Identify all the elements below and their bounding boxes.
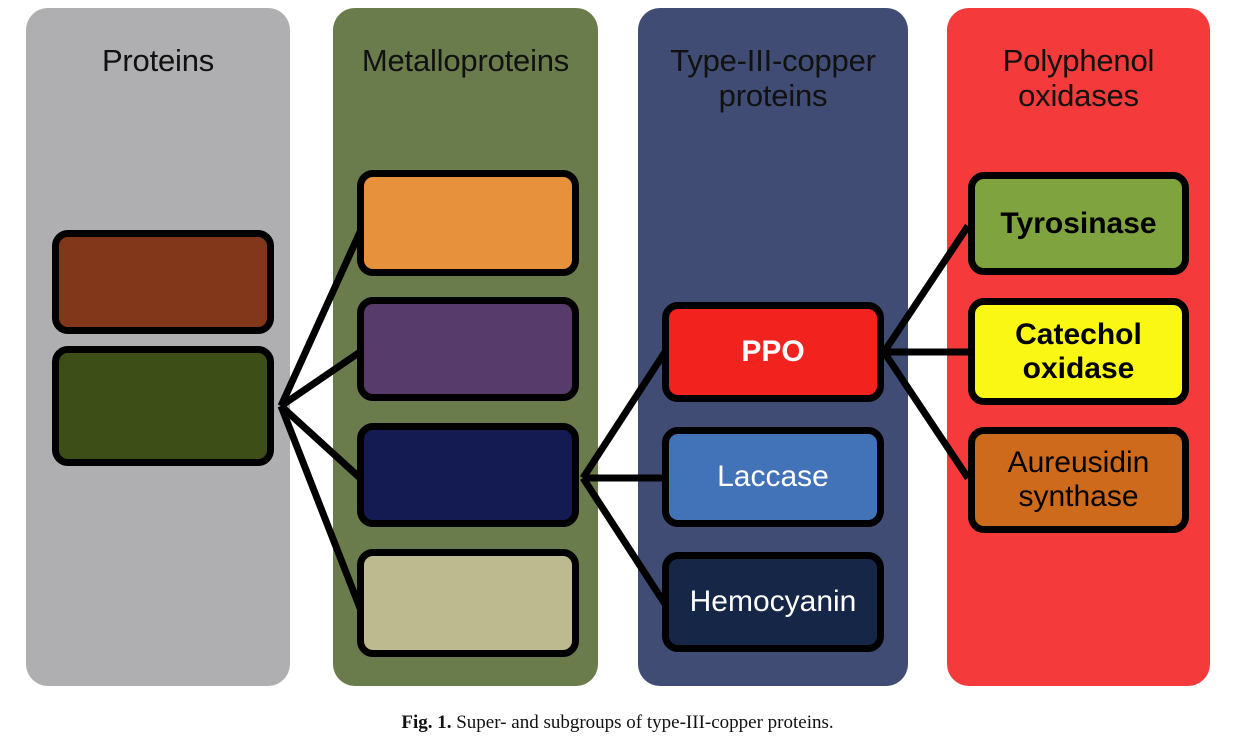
node-aureusidin-synthase[interactable]: Aureusidin synthase	[968, 427, 1189, 533]
column-title-metalloproteins: Metalloproteins	[333, 44, 598, 79]
column-title-type-iii-copper-proteins: Type-III-copper proteins	[638, 44, 908, 113]
column-title-proteins: Proteins	[26, 44, 290, 79]
node-metalloproteins-box-3[interactable]	[357, 423, 579, 527]
node-metalloproteins-box-1[interactable]	[357, 170, 579, 276]
node-metalloproteins-box-4[interactable]	[357, 549, 579, 657]
column-title-polyphenol-oxidases: Polyphenol oxidases	[947, 44, 1210, 113]
node-catechol-oxidase[interactable]: Catechol oxidase	[968, 298, 1189, 405]
caption-label: Fig. 1.	[401, 712, 451, 733]
caption-text: Super- and subgroups of type-III-copper …	[451, 712, 833, 733]
node-metalloproteins-box-2[interactable]	[357, 297, 579, 401]
node-hemocyanin[interactable]: Hemocyanin	[662, 552, 884, 652]
figure-canvas: ProteinsMetalloproteinsType-III-copper p…	[0, 0, 1235, 752]
node-proteins-box-2[interactable]	[52, 346, 274, 466]
node-proteins-box-1[interactable]	[52, 230, 274, 334]
node-laccase[interactable]: Laccase	[662, 427, 884, 527]
node-tyrosinase[interactable]: Tyrosinase	[968, 172, 1189, 275]
figure-caption: Fig. 1. Super- and subgroups of type-III…	[0, 712, 1235, 734]
node-ppo[interactable]: PPO	[662, 302, 884, 402]
